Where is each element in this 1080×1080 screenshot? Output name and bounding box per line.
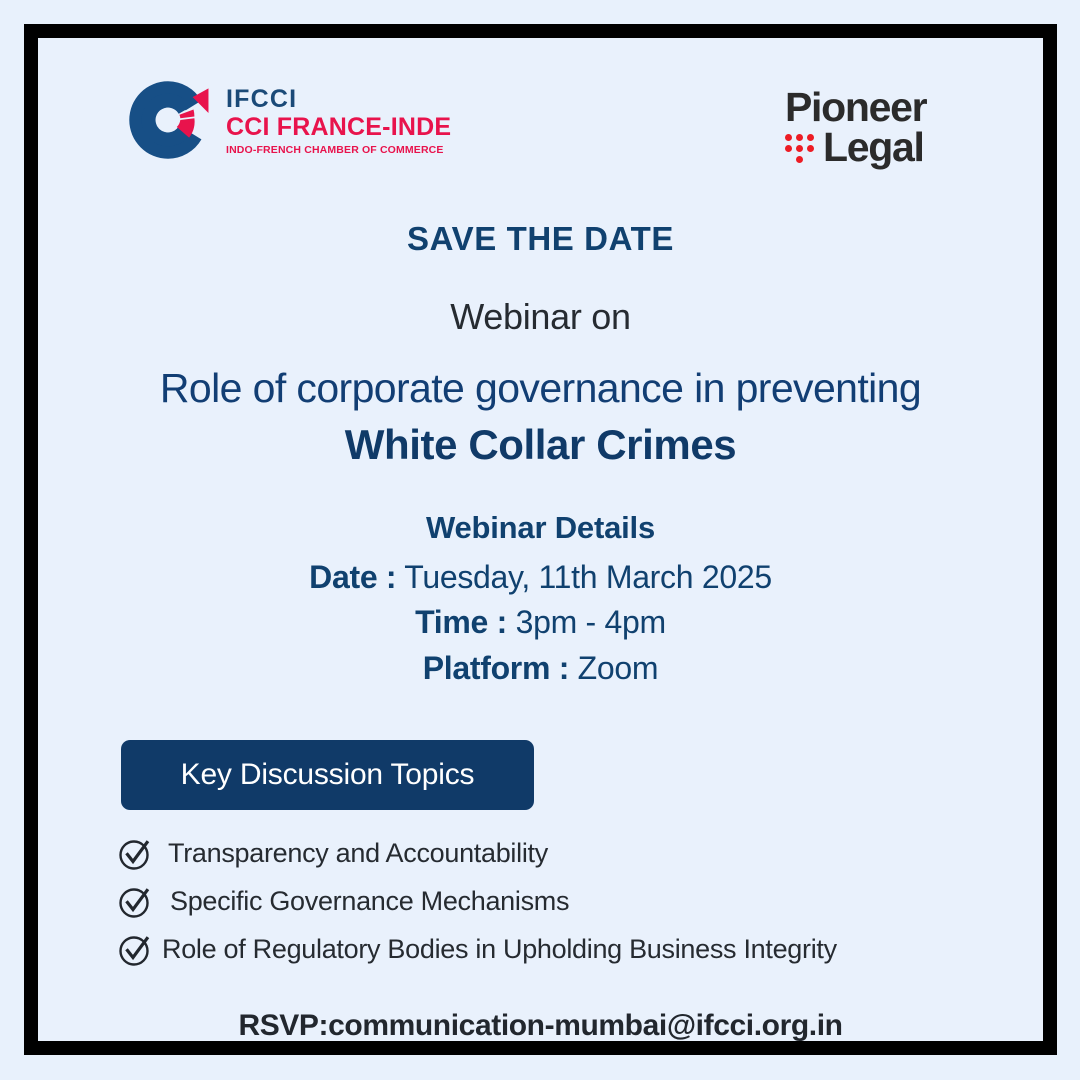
key-discussion-topics-label: Key Discussion Topics (181, 758, 475, 792)
detail-value-date: Tuesday, 11th March 2025 (404, 559, 772, 595)
pioneer-legal-logo: Pioneer Legal (785, 88, 965, 180)
check-circle-icon (118, 837, 152, 871)
webinar-title-line2: White Collar Crimes (38, 421, 1043, 469)
detail-value-time: 3pm - 4pm (516, 604, 666, 640)
detail-label-date: Date : (309, 559, 396, 595)
detail-row-platform: Platform : Zoom (38, 646, 1043, 691)
ifcci-logo: IFCCI CCI FRANCE-INDE INDO-FRENCH CHAMBE… (124, 76, 451, 164)
save-the-date-heading: SAVE THE DATE (38, 220, 1043, 258)
pioneer-logo-line2-row: Legal (785, 128, 965, 178)
ifcci-logo-line2: CCI FRANCE-INDE (226, 115, 451, 140)
poster-inner: IFCCI CCI FRANCE-INDE INDO-FRENCH CHAMBE… (38, 38, 1043, 1041)
list-item-label: Transparency and Accountability (168, 838, 548, 869)
rsvp-line[interactable]: RSVP:communication-mumbai@ifcci.org.in (38, 1009, 1043, 1043)
ifcci-concentric-c-mark-icon (124, 76, 212, 164)
check-circle-icon (118, 933, 152, 967)
poster-frame: IFCCI CCI FRANCE-INDE INDO-FRENCH CHAMBE… (24, 24, 1057, 1055)
list-item: Specific Governance Mechanisms (118, 878, 983, 925)
logo-row: IFCCI CCI FRANCE-INDE INDO-FRENCH CHAMBE… (38, 68, 1043, 188)
list-item: Role of Regulatory Bodies in Upholding B… (118, 926, 983, 973)
webinar-details-heading: Webinar Details (38, 510, 1043, 546)
detail-label-time: Time : (415, 604, 507, 640)
pioneer-logo-line2: Legal (823, 128, 924, 167)
list-item-label: Specific Governance Mechanisms (170, 886, 569, 917)
key-discussion-topics-button[interactable]: Key Discussion Topics (121, 740, 534, 810)
check-circle-icon (118, 885, 152, 919)
pioneer-dot-grid-icon (785, 134, 819, 178)
list-item: Transparency and Accountability (118, 830, 983, 877)
webinar-title-line1: Role of corporate governance in preventi… (38, 365, 1043, 412)
pioneer-logo-line1: Pioneer (785, 88, 965, 127)
ifcci-logo-line3: INDO-FRENCH CHAMBER OF COMMERCE (226, 145, 451, 156)
webinar-details-block: Webinar Details Date : Tuesday, 11th Mar… (38, 510, 1043, 691)
list-item-label: Role of Regulatory Bodies in Upholding B… (162, 934, 837, 965)
detail-row-date: Date : Tuesday, 11th March 2025 (38, 555, 1043, 600)
topics-list: Transparency and Accountability Specific… (118, 830, 983, 974)
detail-row-time: Time : 3pm - 4pm (38, 600, 1043, 645)
detail-value-platform: Zoom (578, 650, 659, 686)
detail-label-platform: Platform : (423, 650, 569, 686)
ifcci-logo-text: IFCCI CCI FRANCE-INDE INDO-FRENCH CHAMBE… (226, 85, 451, 156)
webinar-on-label: Webinar on (38, 296, 1043, 338)
ifcci-logo-line1: IFCCI (226, 87, 451, 112)
poster-canvas: IFCCI CCI FRANCE-INDE INDO-FRENCH CHAMBE… (0, 0, 1080, 1080)
